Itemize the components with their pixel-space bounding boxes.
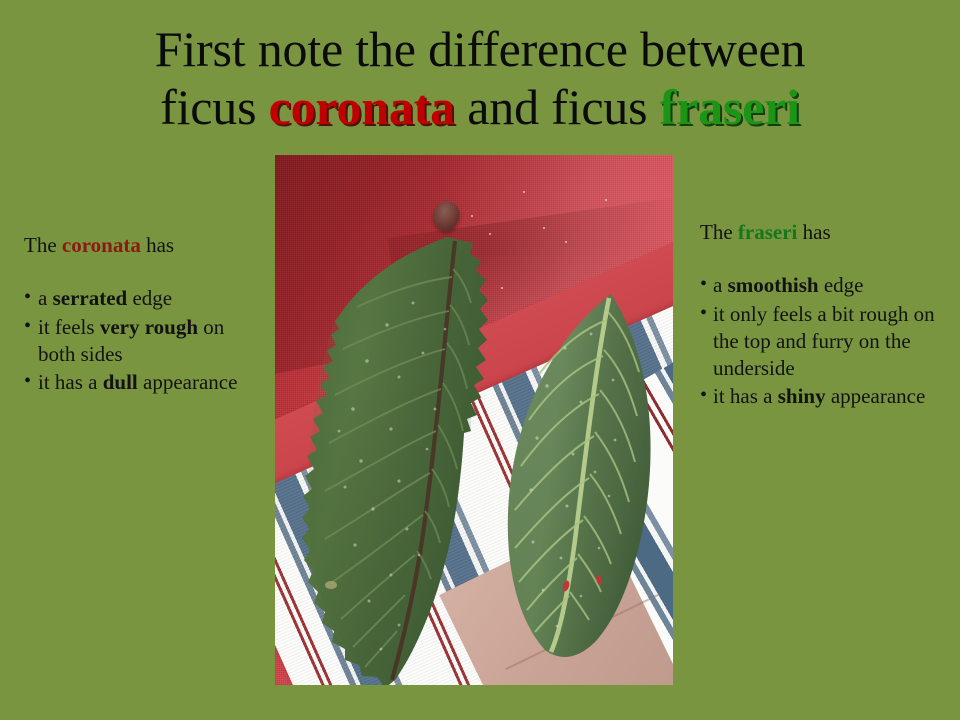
fraseri-bullet-list: a smoothish edge it only feels a bit rou… xyxy=(700,272,950,410)
title-line-2: ficus coronata and ficus fraseri xyxy=(30,78,930,136)
list-item: it only feels a bit rough on the top and… xyxy=(700,301,950,383)
bullet-text-bold: serrated xyxy=(53,286,128,310)
cloth-fleck xyxy=(471,215,473,217)
bullet-text-pre: it has a xyxy=(38,370,103,394)
bullet-text-post: appearance xyxy=(138,370,238,394)
bullet-text-bold: very rough xyxy=(100,315,198,339)
list-item: it feels very rough on both sides xyxy=(24,314,262,369)
title-species-fraseri: fraseri xyxy=(660,79,800,135)
coronata-heading-prefix: The xyxy=(24,233,62,257)
bullet-text-post: edge xyxy=(127,286,172,310)
title-line-1: First note the difference between xyxy=(30,20,930,78)
fraseri-heading: The fraseri has xyxy=(700,219,950,246)
list-item: it has a dull appearance xyxy=(24,369,262,396)
bullet-text-pre: a xyxy=(38,286,53,310)
fraseri-heading-prefix: The xyxy=(700,220,738,244)
leaf-fraseri xyxy=(503,290,653,660)
cloth-fleck xyxy=(605,199,607,201)
bullet-text-pre: it has a xyxy=(713,384,778,408)
bullet-text-post: edge xyxy=(819,273,864,297)
title-species-coronata: coronata xyxy=(269,79,455,135)
photo-inner xyxy=(275,155,673,685)
list-item: a serrated edge xyxy=(24,285,262,312)
coronata-heading: The coronata has xyxy=(24,232,262,259)
leaf-comparison-photo xyxy=(275,155,673,685)
bullet-text-pre: it feels xyxy=(38,315,100,339)
cloth-fleck xyxy=(523,191,525,193)
coronata-heading-species: coronata xyxy=(62,233,141,257)
list-item: it has a shiny appearance xyxy=(700,383,950,410)
cloth-fleck xyxy=(565,241,567,243)
cloth-fleck xyxy=(543,227,545,229)
bullet-text-bold: dull xyxy=(103,370,138,394)
coronata-heading-suffix: has xyxy=(141,233,174,257)
bullet-text-pre: a xyxy=(713,273,728,297)
coronata-bullet-list: a serrated edge it feels very rough on b… xyxy=(24,285,262,396)
coronata-description-column: The coronata has a serrated edge it feel… xyxy=(24,232,262,397)
page-title: First note the difference between ficus … xyxy=(30,20,930,136)
bullet-text-pre: it only feels a bit rough on the top and… xyxy=(713,302,935,381)
bullet-text-bold: shiny xyxy=(778,384,826,408)
fraseri-sheen xyxy=(508,294,651,657)
leaf-coronata xyxy=(295,233,517,685)
leaf-fraseri-svg xyxy=(503,290,653,660)
fraseri-heading-suffix: has xyxy=(797,220,830,244)
leaf-coronata-svg xyxy=(295,233,517,685)
bullet-text-post: appearance xyxy=(826,384,926,408)
fraseri-heading-species: fraseri xyxy=(738,220,797,244)
list-item: a smoothish edge xyxy=(700,272,950,299)
bullet-text-bold: smoothish xyxy=(728,273,819,297)
slide-root: First note the difference between ficus … xyxy=(0,0,960,720)
title-and-ficus: and ficus xyxy=(455,79,660,135)
title-ficus-prefix: ficus xyxy=(160,79,269,135)
coronata-blemish xyxy=(325,581,337,589)
fraseri-description-column: The fraseri has a smoothish edge it only… xyxy=(700,219,950,412)
